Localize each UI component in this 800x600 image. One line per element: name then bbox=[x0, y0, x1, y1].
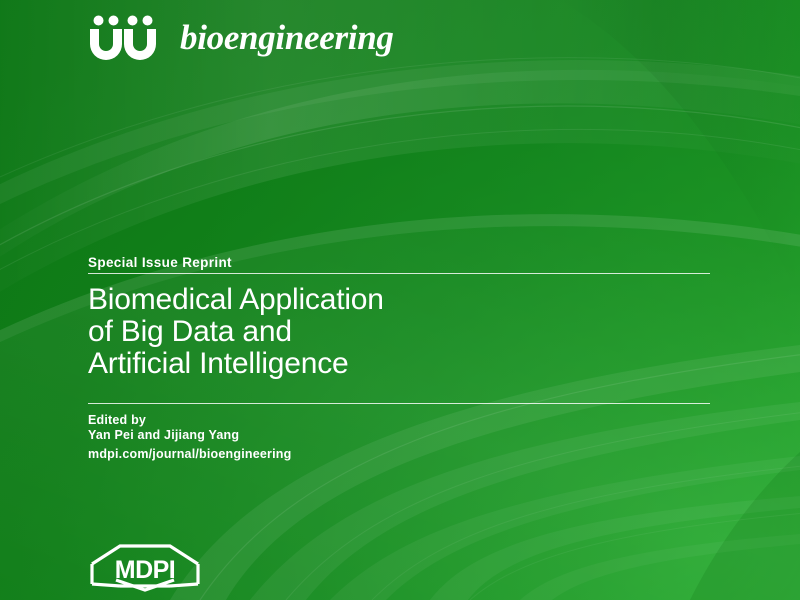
mdpi-wordmark: MDPI bbox=[115, 556, 176, 584]
journal-masthead: bioengineering bbox=[88, 14, 394, 60]
special-issue-kicker: Special Issue Reprint bbox=[88, 255, 710, 270]
page-title: Biomedical Application of Big Data and A… bbox=[88, 284, 710, 380]
bioengineering-twin-u-logo-icon bbox=[88, 14, 158, 60]
mdpi-hexagon-logo-icon: MDPI bbox=[86, 540, 204, 592]
divider-bottom bbox=[88, 403, 710, 404]
divider-top bbox=[88, 273, 710, 274]
journal-title: bioengineering bbox=[180, 20, 394, 55]
book-cover: bioengineering Special Issue Reprint Bio… bbox=[0, 0, 800, 600]
editors-names: Yan Pei and Jijiang Yang bbox=[88, 428, 710, 443]
journal-url-link[interactable]: mdpi.com/journal/bioengineering bbox=[88, 447, 710, 461]
publisher-logo: MDPI bbox=[86, 540, 204, 592]
cover-content: bioengineering Special Issue Reprint Bio… bbox=[0, 0, 800, 600]
edited-by-label: Edited by bbox=[88, 413, 710, 428]
